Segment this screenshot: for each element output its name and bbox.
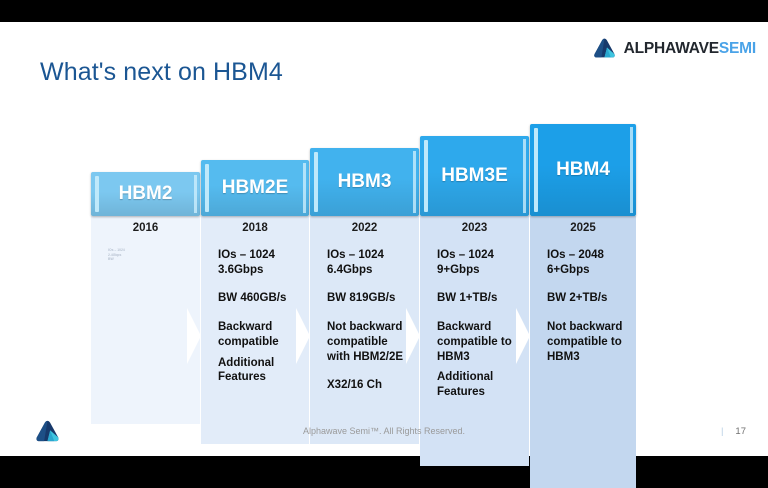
roadmap-item: BW 2+TB/s xyxy=(547,291,628,306)
roadmap-column-label: HBM4 xyxy=(530,159,636,181)
roadmap-column-header[interactable]: HBM4 xyxy=(530,124,636,216)
roadmap-item: IOs – 2048 6+Gbps xyxy=(547,248,628,277)
roadmap-item: IOs – 1024 9+Gbps xyxy=(437,248,521,277)
slide-canvas: ALPHAWAVESEMI What's next on HBM4 2016IO… xyxy=(0,22,768,456)
roadmap-item: X32/16 Ch xyxy=(327,378,411,393)
roadmap-item: Backward compatible xyxy=(218,320,301,349)
roadmap-column-header[interactable]: HBM3 xyxy=(310,148,419,216)
roadmap-column-items: IOs – 2048 6+GbpsBW 2+TB/sNot backward c… xyxy=(547,248,628,378)
roadmap-column-label: HBM3 xyxy=(310,171,419,193)
slide-deck: ALPHAWAVESEMI What's next on HBM4 2016IO… xyxy=(0,0,768,480)
roadmap-column-label: HBM2E xyxy=(201,177,309,199)
page-title: What's next on HBM4 xyxy=(40,58,283,87)
roadmap-item: BW 1+TB/s xyxy=(437,291,521,306)
roadmap-column[interactable]: 2025IOs – 2048 6+GbpsBW 2+TB/sNot backwa… xyxy=(530,84,636,414)
roadmap-column-year: 2025 xyxy=(530,222,636,234)
chevron-notch-icon xyxy=(187,308,200,364)
footer-copyright: Alphawave Semi™. All Rights Reserved. xyxy=(0,426,768,436)
roadmap-column-items: IOs – 1024 3.6GbpsBW 460GB/sBackward com… xyxy=(218,248,301,399)
letterbox-bottom xyxy=(0,456,768,480)
roadmap-column-header[interactable]: HBM2 xyxy=(91,172,200,216)
roadmap-item: IOs – 1024 6.4Gbps xyxy=(327,248,411,277)
roadmap-column-year: 2018 xyxy=(201,222,309,234)
brand-name-primary: ALPHAWAVE xyxy=(624,40,719,57)
page-number: 17 xyxy=(735,426,746,437)
brand-logo: ALPHAWAVESEMI xyxy=(592,36,756,61)
footer-separator: | xyxy=(721,426,723,437)
roadmap-item: Not backward compatible with HBM2/2E xyxy=(327,320,411,364)
roadmap-item: IOs – 1024 3.6Gbps xyxy=(218,248,301,277)
brand-name-secondary: SEMI xyxy=(719,40,756,57)
roadmap-column-header[interactable]: HBM2E xyxy=(201,160,309,216)
roadmap-column[interactable]: 2022IOs – 1024 6.4GbpsBW 819GB/sNot back… xyxy=(310,84,419,414)
roadmap-column-label: HBM3E xyxy=(420,165,529,187)
alphawave-triangle-icon xyxy=(592,36,617,61)
roadmap-column[interactable]: 2023IOs – 1024 9+GbpsBW 1+TB/sBackward c… xyxy=(420,84,529,414)
roadmap-item: Additional Features xyxy=(218,356,301,385)
roadmap-faint-note: IOs – 1024 2.4Gbps BW xyxy=(108,248,125,262)
roadmap-column-items: IOs – 1024 9+GbpsBW 1+TB/sBackward compa… xyxy=(437,248,521,414)
roadmap-item: BW 460GB/s xyxy=(218,291,301,306)
footer-page-indicator: | 17 xyxy=(721,426,746,437)
roadmap-column-items: IOs – 1024 6.4GbpsBW 819GB/sNot backward… xyxy=(327,248,411,407)
roadmap-item: BW 819GB/s xyxy=(327,291,411,306)
roadmap-column-label: HBM2 xyxy=(91,183,200,205)
roadmap-column-year: 2022 xyxy=(310,222,419,234)
roadmap-column[interactable]: 2018IOs – 1024 3.6GbpsBW 460GB/sBackward… xyxy=(201,84,309,414)
roadmap-column-header[interactable]: HBM3E xyxy=(420,136,529,216)
roadmap-column[interactable]: 2016IOs – 1024 2.4Gbps BWHBM2 xyxy=(91,84,200,414)
brand-name: ALPHAWAVESEMI xyxy=(624,40,756,58)
roadmap-column-year: 2023 xyxy=(420,222,529,234)
roadmap-item: Additional Features xyxy=(437,370,521,399)
roadmap-item: Backward compatible to HBM3 xyxy=(437,320,521,364)
roadmap-item: Not backward compatible to HBM3 xyxy=(547,320,628,364)
letterbox-top xyxy=(0,0,768,22)
roadmap-column-year: 2016 xyxy=(91,222,200,234)
hbm-roadmap-chart: 2016IOs – 1024 2.4Gbps BWHBM22018IOs – 1… xyxy=(91,84,636,414)
